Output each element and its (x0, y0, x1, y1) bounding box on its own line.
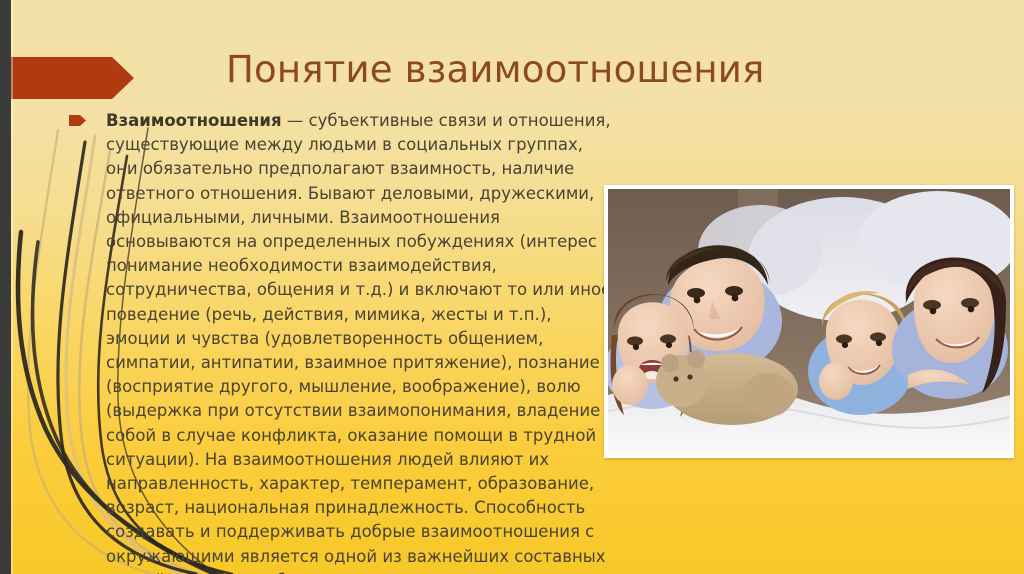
family-photo-frame (604, 185, 1014, 458)
body-content: Взаимоотношения — субъективные связи и о… (69, 109, 614, 574)
left-strip-highlight (11, 0, 13, 574)
arrow-pennant-bullet-icon (69, 115, 86, 126)
list-item: Взаимоотношения — субъективные связи и о… (69, 109, 614, 574)
body-paragraph-text: — субъективные связи и отношения, сущест… (106, 111, 611, 574)
red-arrow-banner (0, 57, 134, 99)
family-photo (608, 189, 1010, 454)
page-title: Понятие взаимоотношения (226, 48, 996, 92)
presentation-slide: Понятие взаимоотношения Взаимоотношения … (0, 0, 1024, 574)
family-photo-illustration (608, 189, 1010, 454)
body-paragraph: Взаимоотношения — субъективные связи и о… (106, 109, 614, 574)
left-dark-strip (0, 0, 11, 574)
body-lead-term: Взаимоотношения (106, 111, 282, 130)
